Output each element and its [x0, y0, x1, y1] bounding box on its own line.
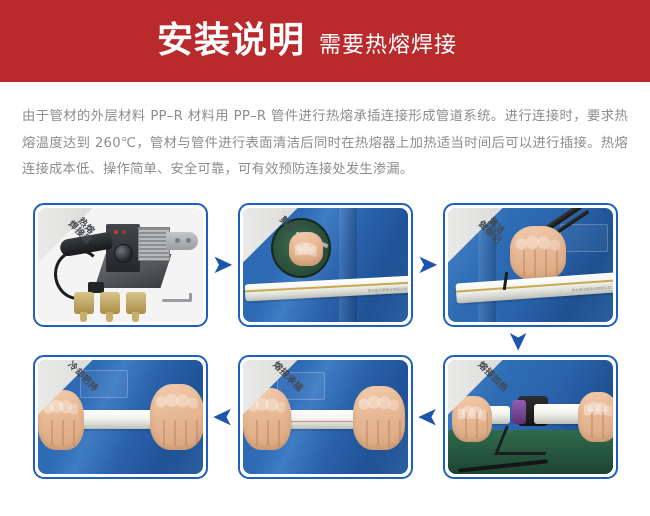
step-photo-clean-and-mark: 热水管汉斯管业有限公司 清洁 做标记	[448, 208, 613, 322]
welding-socket-shape	[74, 292, 94, 314]
finger-separation-shape	[456, 412, 488, 438]
machine-temperature-dial-shape	[114, 244, 133, 263]
arrow-right-icon: ➤	[212, 252, 234, 278]
hand-shape	[150, 384, 203, 450]
flow-arrow-down-wrapper: ➤	[0, 328, 650, 354]
flow-arrow-right: ➤	[208, 252, 238, 278]
pipe-print-text: 热水管汉斯管业有限公司	[367, 286, 407, 293]
arrow-left-icon: ➤	[212, 404, 234, 430]
hex-key-shape	[162, 299, 192, 302]
machine-heat-led-shape	[122, 230, 126, 234]
finger-separation-shape	[582, 412, 613, 438]
step-panel-cooling[interactable]: 冷却把持	[33, 355, 208, 479]
finger-separation-shape	[357, 420, 401, 446]
machine-power-led-shape	[114, 230, 118, 234]
finger-separation-shape	[247, 420, 287, 446]
arrow-left-icon: ➤	[417, 404, 439, 430]
step-photo-welding-machine: 热熔 焊接器	[38, 208, 203, 322]
arrow-right-icon: ➤	[417, 252, 439, 278]
step-panel-cut-pipe[interactable]: 热水管汉斯管业有限公司 剪管	[238, 203, 413, 327]
arrow-down-icon: ➤	[505, 330, 531, 352]
step-photo-cooling: 冷却把持	[38, 360, 203, 474]
knuckle-highlight-shape	[359, 394, 399, 414]
steps-row-bottom: 熔接加热 ➤	[0, 352, 650, 482]
flow-arrow-left: ➤	[413, 404, 443, 430]
page-subtitle: 需要热熔焊接	[319, 35, 457, 57]
hand-shape	[353, 386, 405, 450]
step-panel-heating[interactable]: 熔接加热	[443, 355, 618, 479]
knuckle-highlight-shape	[156, 392, 198, 412]
step-photo-socket-fusion: 熔接承插	[243, 360, 408, 474]
welding-socket-shape	[100, 292, 120, 314]
machine-mount-arm-shape	[166, 232, 198, 250]
finger-separation-shape	[154, 420, 200, 446]
flow-arrow-right: ➤	[413, 252, 443, 278]
intro-paragraph: 由于管材的外层材料 PP–R 材料用 PP–R 管件进行热熔承插连接形成管道系统…	[22, 104, 628, 184]
step-photo-heating: 熔接加热	[448, 360, 613, 474]
step-panel-clean-and-mark[interactable]: 热水管汉斯管业有限公司 清洁 做标记	[443, 203, 618, 327]
machine-heating-element-shape	[138, 227, 170, 261]
header-text-group: 安装说明 需要热熔焊接	[157, 23, 457, 59]
welder-stand-shape	[494, 426, 557, 455]
finger-separation-shape	[42, 420, 80, 446]
hand-shape	[578, 392, 613, 442]
flow-arrow-down: ➤	[193, 328, 650, 354]
page-header-banner: 安装说明 需要热熔焊接	[0, 0, 650, 82]
welding-socket-shape	[126, 292, 146, 314]
steps-row-top: 热熔 焊接器 ➤ 热水管汉斯管业有限公司 剪管	[0, 200, 650, 330]
pipe-print-text: 热水管汉斯管业有限公司	[571, 285, 611, 293]
step-photo-cut-pipe: 热水管汉斯管业有限公司 剪管	[243, 208, 408, 322]
flow-arrow-left: ➤	[208, 404, 238, 430]
step-panel-welding-machine[interactable]: 热熔 焊接器	[33, 203, 208, 327]
page-title: 安装说明	[157, 23, 305, 59]
shirt-fold-shape	[339, 208, 357, 322]
step-panel-socket-fusion[interactable]: 熔接承插	[238, 355, 413, 479]
installation-steps: 热熔 焊接器 ➤ 热水管汉斯管业有限公司 剪管	[0, 200, 650, 500]
